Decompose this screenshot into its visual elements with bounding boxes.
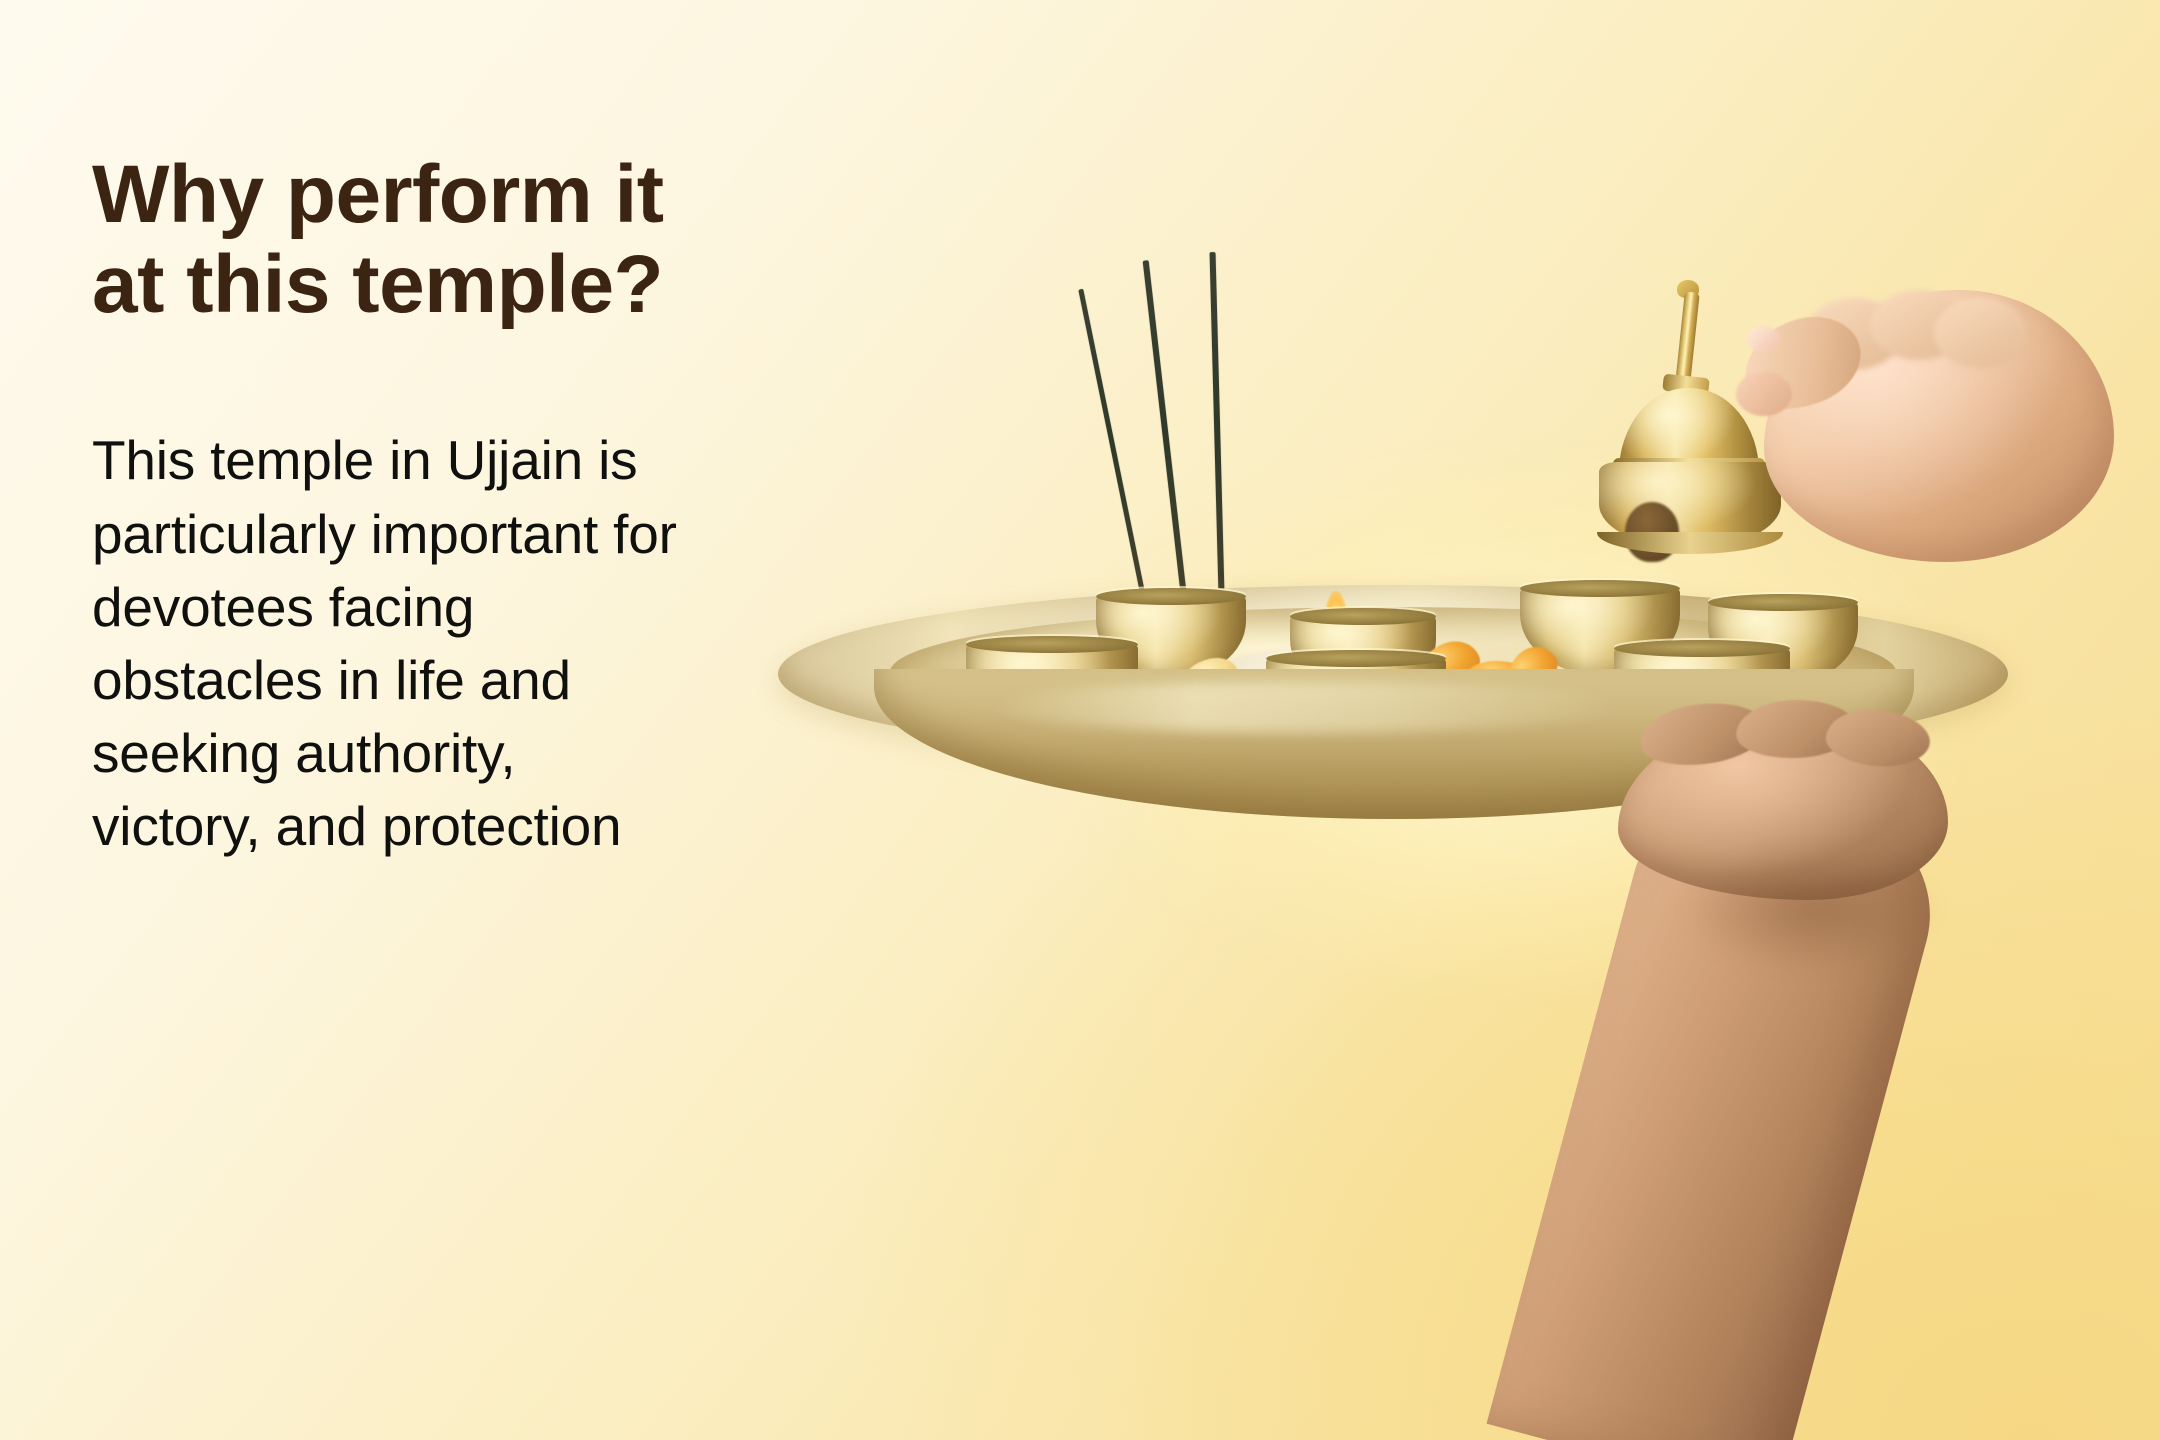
body-line-1: This temple in Ujjain is: [92, 424, 792, 497]
fingertip: [1736, 372, 1792, 416]
diya-mouth: [1614, 640, 1790, 657]
diya-mouth: [966, 636, 1138, 653]
body-line-4: obstacles in life and: [92, 644, 792, 717]
diya-mouth: [1266, 650, 1446, 667]
page-title: Why perform it at this temple?: [92, 150, 1052, 330]
bell-handle: [1675, 291, 1700, 384]
wrist-shadow: [1686, 850, 1936, 970]
headline-line-1: Why perform it: [92, 150, 1052, 240]
slide-root: Why perform it at this temple? This temp…: [0, 0, 2160, 1440]
diya-mouth: [1096, 588, 1246, 605]
body-paragraph: This temple in Ujjain is particularly im…: [92, 424, 792, 863]
body-line-3: devotees facing: [92, 571, 792, 644]
body-line-5: seeking authority,: [92, 717, 792, 790]
headline-line-2: at this temple?: [92, 240, 1052, 330]
body-line-2: particularly important for: [92, 498, 792, 571]
hand-holding-bell: [1720, 268, 2150, 598]
thumb-nail: [1746, 326, 1780, 352]
body-line-6: victory, and protection: [92, 790, 792, 863]
diya-mouth: [1520, 580, 1680, 597]
puja-photo: [1020, 0, 2160, 1440]
diya-mouth: [1290, 608, 1436, 625]
hand-holding-thali: [1490, 700, 2160, 1440]
finger-knuckle: [1934, 298, 2026, 368]
diya-mouth: [1708, 594, 1858, 611]
